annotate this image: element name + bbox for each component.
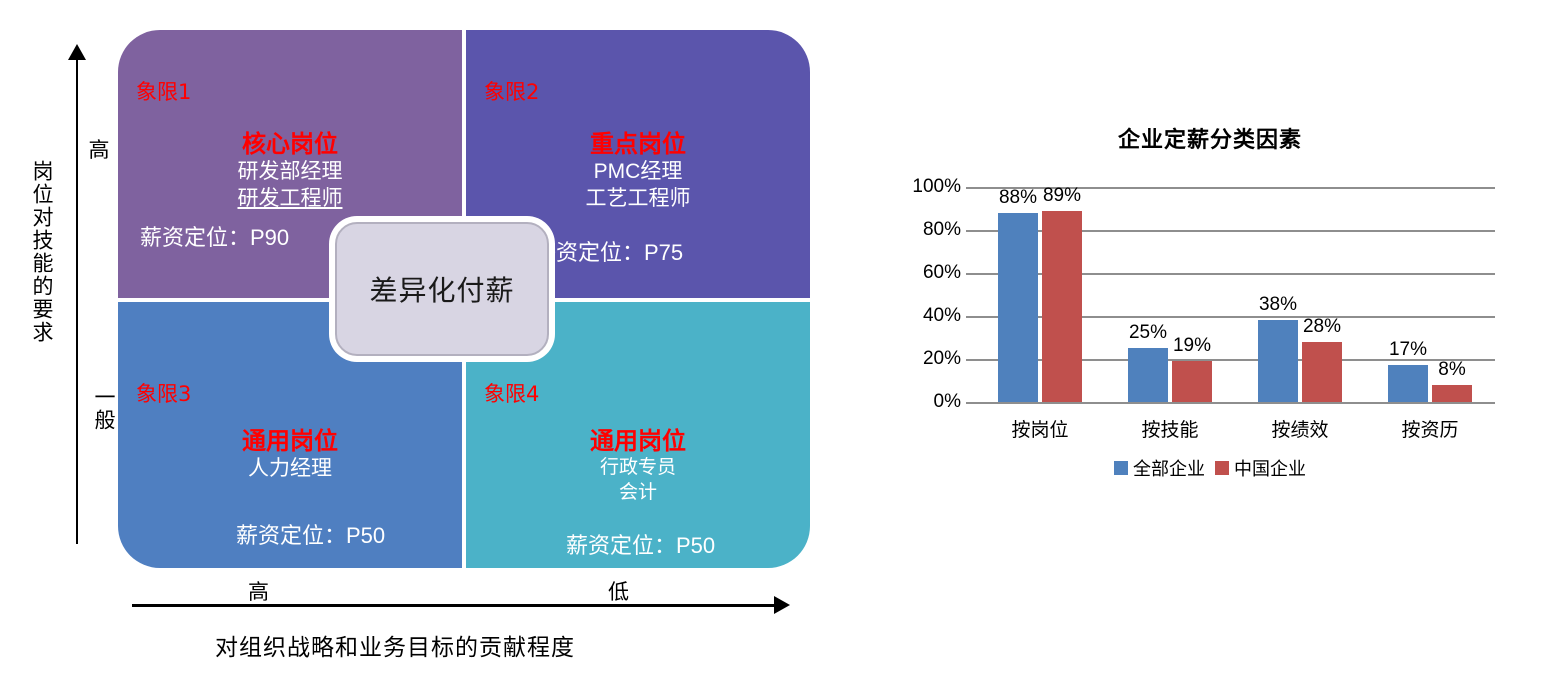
y-axis-tick-mark	[966, 402, 975, 404]
bar-value-label: 38%	[1259, 294, 1297, 316]
quadrant-4-body: 通用岗位 行政专员 会计	[466, 427, 810, 505]
y-axis-tick-mark	[966, 316, 975, 318]
y-axis-title: 岗位对技能的要求	[22, 160, 52, 344]
y-axis-tick-low: 一般	[84, 386, 114, 432]
y-axis-tick-mark	[966, 359, 975, 361]
bar-chart-panel: 企业定薪分类因素 0%20%40%60%80%100%88%89%按岗位25%1…	[880, 100, 1540, 500]
quadrant-2-role-1: 工艺工程师	[466, 186, 810, 213]
chart-plot-area: 0%20%40%60%80%100%88%89%按岗位25%19%按技能38%2…	[975, 187, 1495, 402]
quadrant-1-role-1: 研发工程师	[118, 186, 462, 213]
chart-legend: 全部企业中国企业	[880, 455, 1540, 481]
quadrant-4-pay: 薪资定位：P50	[566, 528, 715, 560]
quadrant-3-tag: 象限3	[136, 384, 191, 405]
legend-item-全部企业[interactable]: 全部企业	[1114, 455, 1205, 481]
quadrant-3-pay: 薪资定位：P50	[236, 518, 385, 550]
y-axis-line	[76, 56, 78, 544]
x-axis-arrow-icon	[774, 596, 790, 614]
bar-按绩效-中国企业[interactable]: 28%	[1302, 342, 1342, 402]
x-axis-category-label: 按资历	[1401, 415, 1458, 442]
quadrant-2-body: 重点岗位 PMC经理 工艺工程师	[466, 130, 810, 213]
chart-title: 企业定薪分类因素	[880, 122, 1540, 154]
x-axis-line	[132, 604, 776, 607]
y-axis-tick-label: 80%	[923, 219, 961, 241]
x-axis-category-label: 按技能	[1141, 415, 1198, 442]
x-axis-category-label: 按绩效	[1271, 415, 1328, 442]
quadrant-3-role-0: 人力经理	[118, 456, 462, 483]
bar-value-label: 25%	[1129, 322, 1167, 344]
bar-按岗位-中国企业[interactable]: 89%	[1042, 211, 1082, 402]
y-axis-tick-mark	[966, 273, 975, 275]
legend-item-中国企业[interactable]: 中国企业	[1215, 455, 1306, 481]
quadrant-matrix-panel: 岗位对技能的要求 高 一般 象限1 核心岗位 研发部经理 研发工程师 薪资定位：…	[0, 0, 860, 679]
y-axis-tick-mark	[966, 230, 975, 232]
legend-swatch-icon	[1114, 461, 1128, 475]
quadrant-1-role-0: 研发部经理	[118, 159, 462, 186]
quadrant-2-role-0: PMC经理	[466, 159, 810, 186]
quadrant-2-pay: 薪资定位：P75	[534, 235, 683, 267]
bar-按绩效-全部企业[interactable]: 38%	[1258, 320, 1298, 402]
bar-value-label: 8%	[1438, 359, 1465, 381]
center-callout[interactable]: 差异化付薪	[335, 222, 549, 356]
quadrant-1-body: 核心岗位 研发部经理 研发工程师	[118, 130, 462, 213]
quadrant-1-head: 核心岗位	[118, 130, 462, 159]
quadrant-2-tag: 象限2	[484, 82, 539, 103]
quadrant-4-tag: 象限4	[484, 384, 539, 405]
y-axis-tick-label: 40%	[923, 305, 961, 327]
bar-value-label: 89%	[1043, 185, 1081, 207]
legend-label: 中国企业	[1234, 455, 1306, 481]
bar-value-label: 17%	[1389, 339, 1427, 361]
quadrant-4-role-0: 行政专员	[466, 456, 810, 480]
x-axis-tick-right: 低	[608, 576, 629, 606]
bar-按技能-中国企业[interactable]: 19%	[1172, 361, 1212, 402]
chart-gridline	[975, 402, 1495, 404]
legend-swatch-icon	[1215, 461, 1229, 475]
y-axis-tick-label: 20%	[923, 348, 961, 370]
legend-label: 全部企业	[1133, 455, 1205, 481]
bar-value-label: 88%	[999, 187, 1037, 209]
x-axis-category-label: 按岗位	[1011, 415, 1068, 442]
y-axis-tick-mark	[966, 187, 975, 189]
x-axis-tick-left: 高	[248, 576, 269, 606]
bar-按资历-中国企业[interactable]: 8%	[1432, 385, 1472, 402]
bar-按岗位-全部企业[interactable]: 88%	[998, 213, 1038, 402]
quadrant-4-role-1: 会计	[466, 481, 810, 505]
quadrant-3-body: 通用岗位 人力经理	[118, 427, 462, 483]
y-axis-tick-high: 高	[84, 140, 114, 162]
y-axis-tick-label: 60%	[923, 262, 961, 284]
bar-value-label: 19%	[1173, 335, 1211, 357]
bar-按技能-全部企业[interactable]: 25%	[1128, 348, 1168, 402]
y-axis-tick-label: 100%	[912, 176, 961, 198]
y-axis-tick-label: 0%	[934, 391, 961, 413]
x-axis-title: 对组织战略和业务目标的贡献程度	[215, 628, 575, 662]
quadrant-3-head: 通用岗位	[118, 427, 462, 456]
quadrant-1-tag: 象限1	[136, 82, 191, 103]
bar-按资历-全部企业[interactable]: 17%	[1388, 365, 1428, 402]
bar-value-label: 28%	[1303, 316, 1341, 338]
quadrant-1-pay: 薪资定位：P90	[140, 220, 289, 252]
quadrant-2-head: 重点岗位	[466, 130, 810, 159]
quadrant-4-head: 通用岗位	[466, 427, 810, 456]
